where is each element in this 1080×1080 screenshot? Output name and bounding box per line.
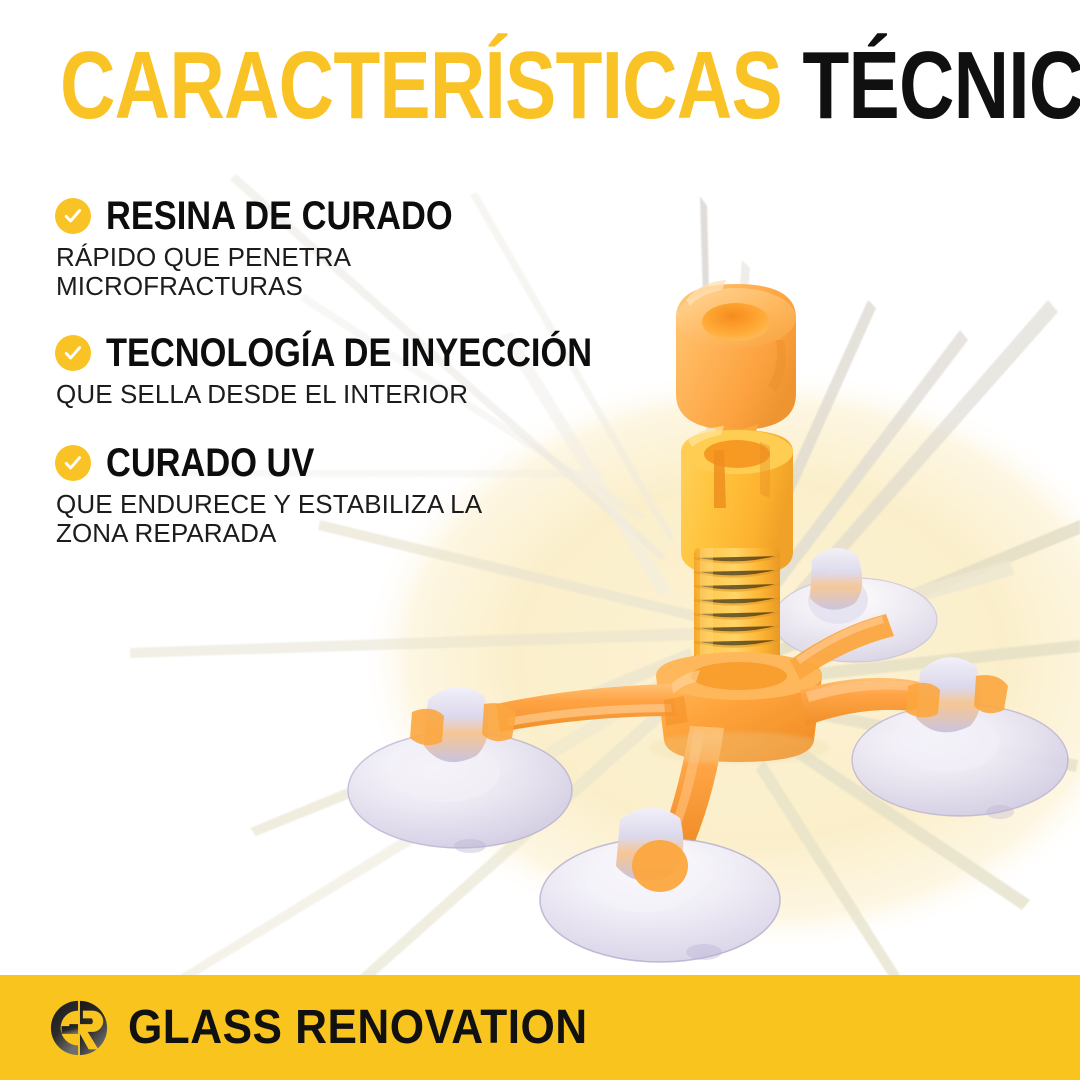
- brand-footer-bar: GLASS RENOVATION: [0, 975, 1080, 1080]
- feature-title: TECNOLOGÍA DE INYECCIÓN: [106, 333, 592, 373]
- check-circle-icon: [55, 198, 91, 234]
- page-title: CARACTERÍSTICAS TÉCNICAS: [60, 38, 1080, 134]
- feature-title: RESINA DE CURADO: [106, 196, 453, 236]
- brand-name: GLASS RENOVATION: [128, 1004, 588, 1052]
- feature-item-tecnologia: TECNOLOGÍA DE INYECCIÓN QUE SELLA DESDE …: [55, 333, 615, 409]
- feature-heading-row: CURADO UV: [55, 443, 615, 483]
- feature-title: CURADO UV: [106, 443, 314, 483]
- check-circle-icon: [55, 335, 91, 371]
- feature-list: RESINA DE CURADO RÁPIDO QUE PENETRA MICR…: [55, 196, 615, 580]
- feature-heading-row: TECNOLOGÍA DE INYECCIÓN: [55, 333, 615, 373]
- title-part-dark: TÉCNICAS: [802, 32, 1080, 139]
- feature-item-resina: RESINA DE CURADO RÁPIDO QUE PENETRA MICR…: [55, 196, 615, 301]
- feature-description: QUE ENDURECE Y ESTABILIZA LA ZONA REPARA…: [55, 490, 555, 548]
- infographic-canvas: CARACTERÍSTICAS TÉCNICAS RESINA DE CURAD…: [0, 0, 1080, 1080]
- gr-monogram-logo: [48, 997, 110, 1059]
- feature-description: RÁPIDO QUE PENETRA MICROFRACTURAS: [55, 243, 555, 301]
- title-part-yellow: CARACTERÍSTICAS: [60, 32, 782, 139]
- check-circle-icon: [55, 445, 91, 481]
- feature-item-curado-uv: CURADO UV QUE ENDURECE Y ESTABILIZA LA Z…: [55, 443, 615, 548]
- feature-description: QUE SELLA DESDE EL INTERIOR: [55, 380, 555, 409]
- feature-heading-row: RESINA DE CURADO: [55, 196, 615, 236]
